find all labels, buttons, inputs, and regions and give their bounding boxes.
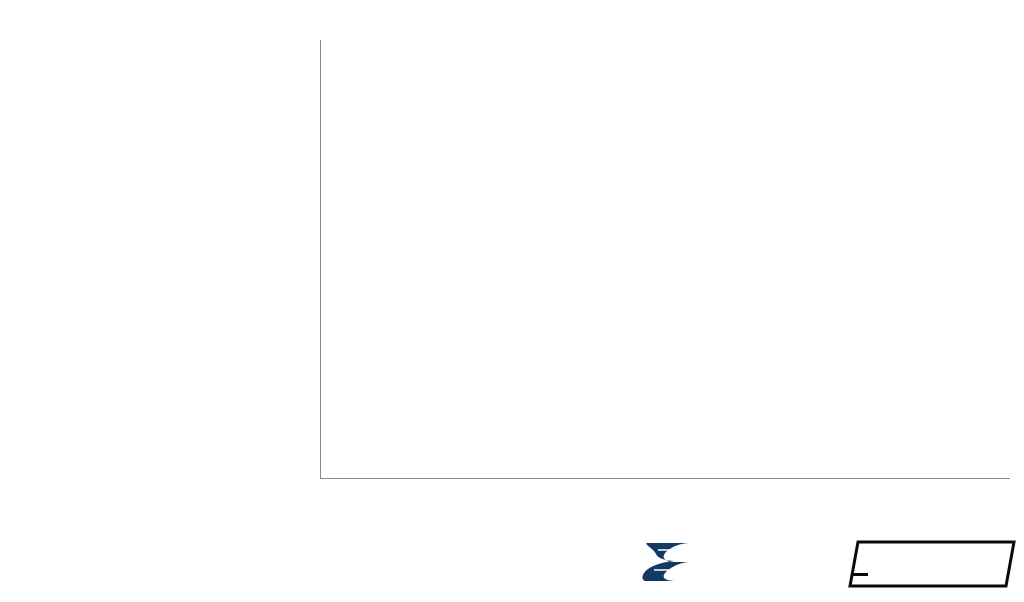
superflow-logo bbox=[642, 541, 824, 585]
do88-performance-label bbox=[852, 573, 868, 576]
do88-logo bbox=[848, 540, 1016, 590]
chart-plot-area bbox=[320, 40, 1010, 479]
series-lines bbox=[320, 40, 1010, 479]
superflow-swoosh-icon bbox=[642, 541, 694, 583]
do88-logo-frame bbox=[848, 540, 1016, 590]
